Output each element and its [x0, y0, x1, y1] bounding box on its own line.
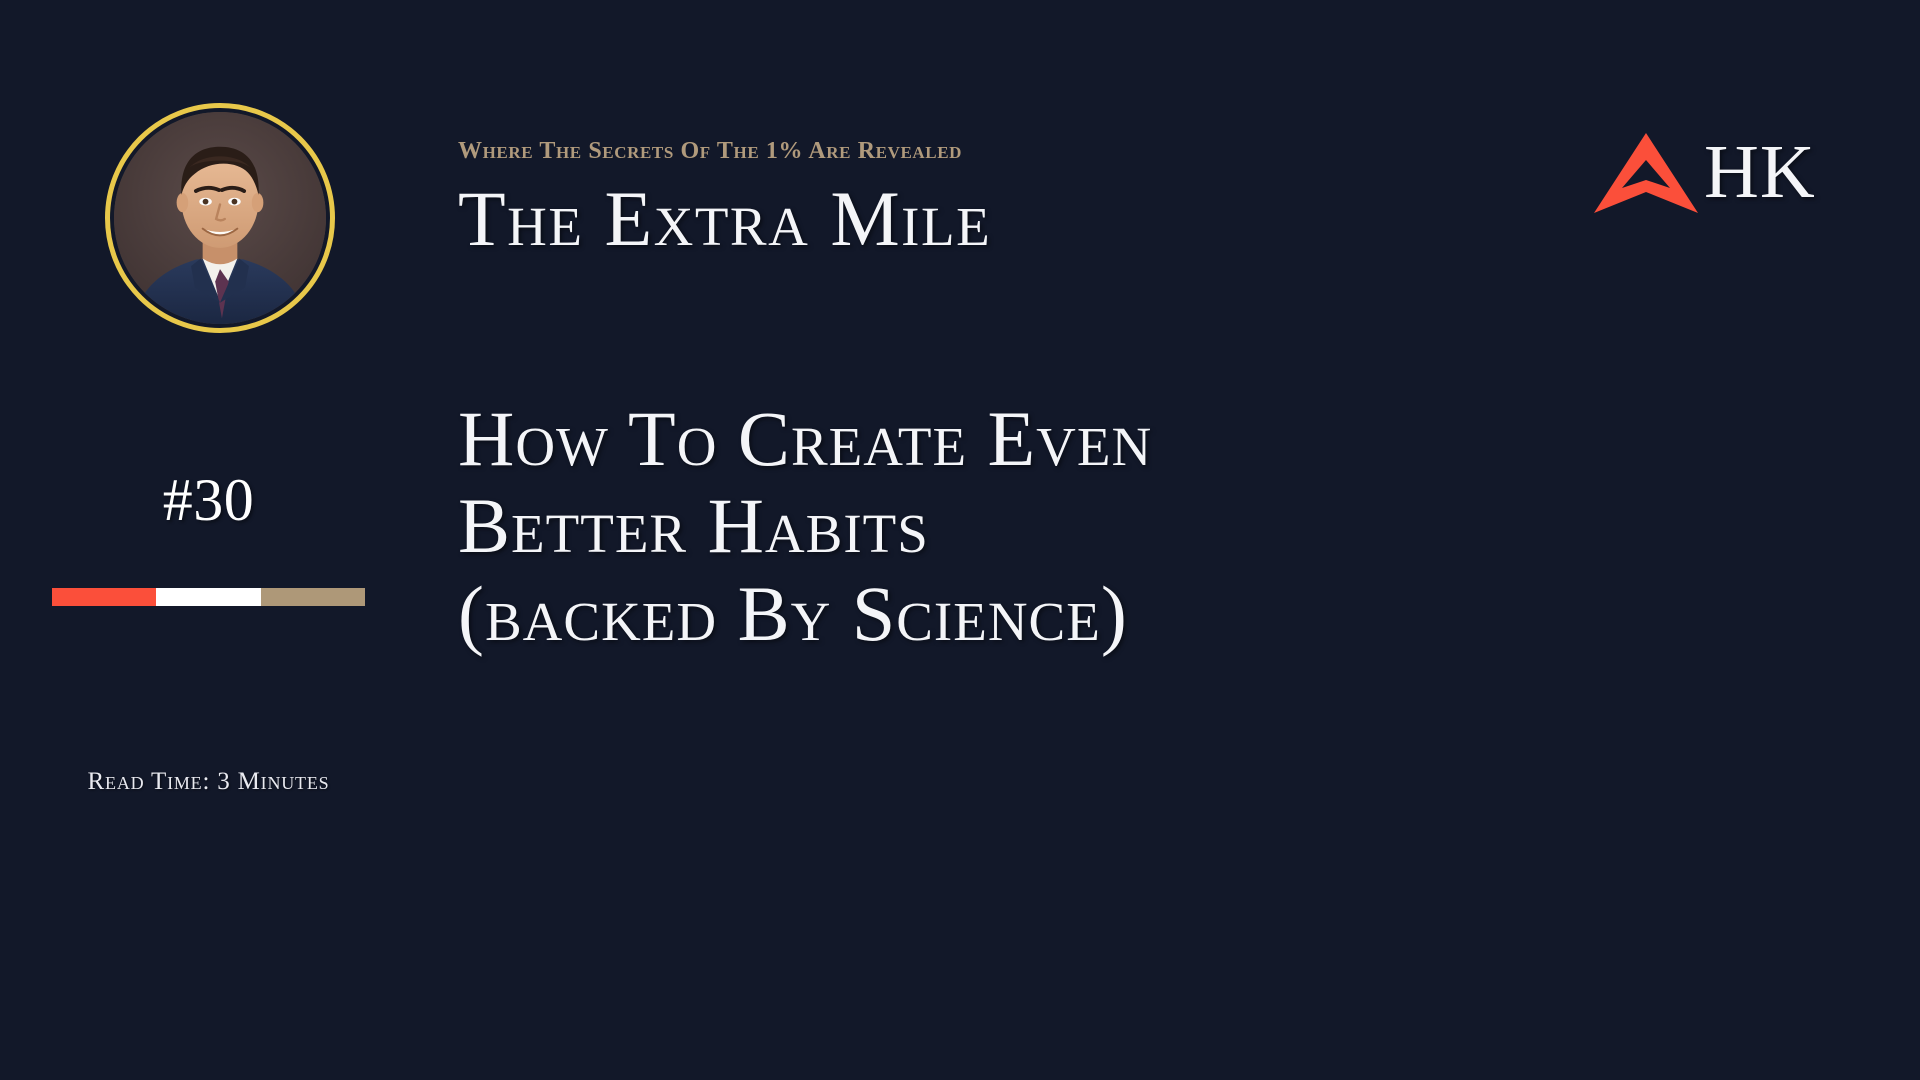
headline-line-2: Better Habits: [458, 482, 1458, 569]
progress-segment-white: [156, 588, 260, 606]
newsletter-header-canvas: #30 Read Time: 3 Minutes Where The Secre…: [0, 0, 1920, 1080]
hk-arrow-mark: [1592, 130, 1700, 215]
hk-logo-text: HK: [1704, 134, 1816, 210]
progress-segment-red: [52, 588, 156, 606]
author-headshot: [114, 112, 326, 324]
headline-line-1: How To Create Even: [458, 395, 1458, 482]
read-time-label: Read Time: 3 Minutes: [52, 768, 365, 796]
headline-line-3: (backed By Science): [458, 570, 1458, 657]
avatar: [105, 103, 335, 333]
issue-number: #30: [52, 470, 365, 530]
headshot-illustration: [114, 112, 326, 324]
article-headline: How To Create Even Better Habits (backed…: [458, 395, 1458, 657]
progress-segment-tan: [261, 588, 365, 606]
brand-title: The Extra Mile: [458, 178, 991, 260]
hk-logo[interactable]: HK: [1592, 128, 1816, 216]
tagline: Where The Secrets Of The 1% Are Revealed: [458, 138, 962, 165]
progress-bar: [52, 588, 365, 606]
